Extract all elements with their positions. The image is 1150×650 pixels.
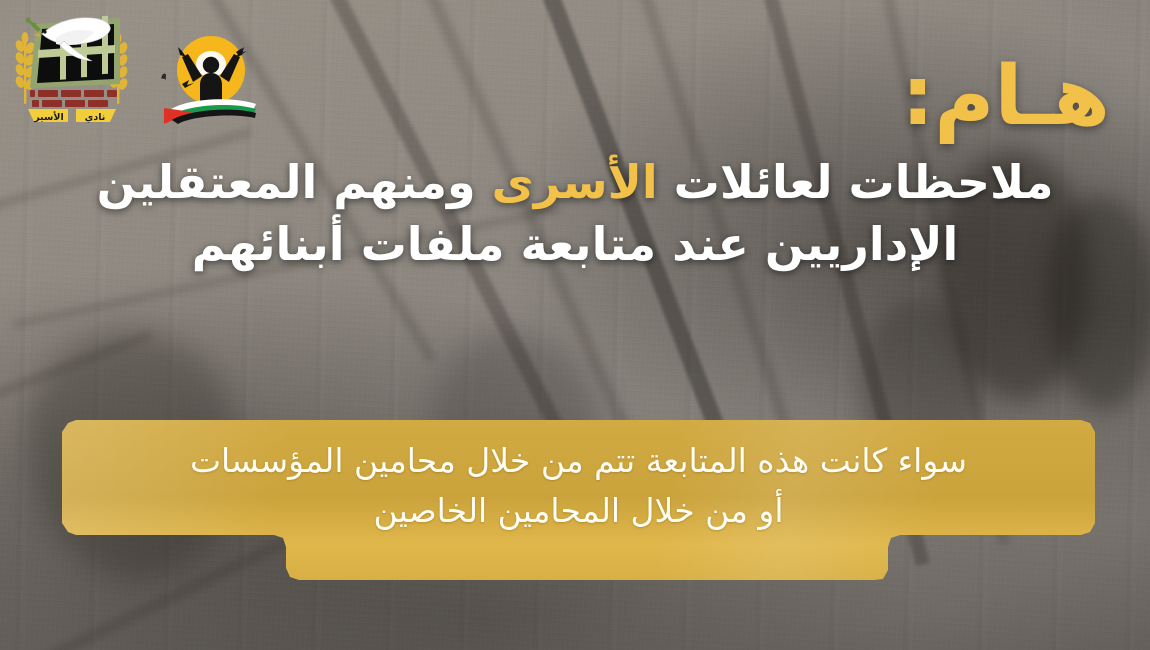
headline-text: ملاحظات لعائلات الأسرى ومنهم المعتقلين ا… <box>40 152 1110 275</box>
brick-wall <box>30 90 117 107</box>
banner-text-right: نادي <box>85 112 106 123</box>
svg-text:هيئة شؤون الأسرى والمحررين: هيئة شؤون الأسرى والمحررين <box>152 8 169 81</box>
club-name-banner: الأسير نادي <box>28 109 116 123</box>
logo-row: هيئة شؤون الأسرى والمحررين <box>8 8 270 134</box>
headline-line1-highlight: الأسرى <box>492 155 658 209</box>
headline-line1-before: ملاحظات لعائلات <box>658 155 1054 209</box>
headline-line1-after: ومنهم المعتقلين <box>97 155 492 209</box>
commission-logo-svg: هيئة شؤون الأسرى والمحررين <box>152 8 270 126</box>
headline-line2: الإداريين عند متابعة ملفات أبنائهم <box>192 217 958 271</box>
panel-line-2: أو من خلال المحامين الخاصين <box>88 486 1069 536</box>
panel-text-block: سواء كانت هذه المتابعة تتم من خلال محامي… <box>62 436 1095 536</box>
prisoners-club-logo-svg: الأسير نادي <box>8 8 136 130</box>
banner-text-left: الأسير <box>33 111 63 123</box>
palestinian-flag <box>164 99 256 124</box>
commission-of-detainees-affairs-logo: هيئة شؤون الأسرى والمحررين <box>152 8 270 130</box>
poster-canvas: هيئة شؤون الأسرى والمحررين <box>0 0 1150 650</box>
palestinian-prisoners-club-logo: الأسير نادي <box>8 8 136 134</box>
panel-line-1: سواء كانت هذه المتابعة تتم من خلال محامي… <box>88 436 1069 486</box>
